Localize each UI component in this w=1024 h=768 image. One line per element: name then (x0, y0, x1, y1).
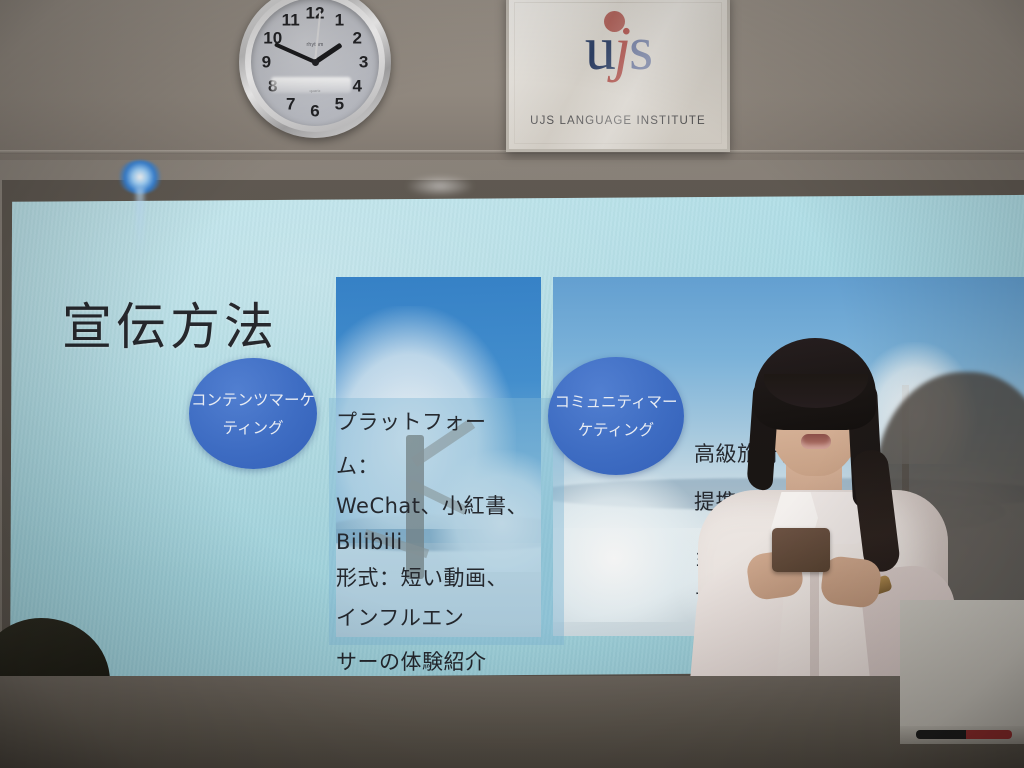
body-line-1: プラットフォー (336, 400, 566, 444)
clock-face: 12 1 2 3 4 5 6 7 8 9 10 11 rhythm quartz (251, 0, 379, 126)
wall-clock: 12 1 2 3 4 5 6 7 8 9 10 11 rhythm quartz (239, 0, 391, 138)
clock-numeral-6: 6 (310, 102, 319, 119)
clock-numeral-9: 9 (262, 54, 271, 71)
clock-numeral-3: 3 (359, 54, 368, 71)
left-body-text: プラットフォー ム： WeChat、小紅書、 Bilibili 形式：短い動画、… (336, 400, 566, 684)
logo-letter-s: s (629, 15, 651, 83)
body-line-4: Bilibili (336, 524, 566, 560)
bubble-content-marketing-label: コンテンツマーケティング (189, 386, 317, 442)
clock-center-pin (312, 59, 319, 66)
body-line-6: インフルエン (336, 596, 566, 640)
slide-title: 宣伝方法 (62, 287, 278, 359)
clock-numeral-2: 2 (353, 29, 362, 46)
body-line-5: 形式：短い動画、 (336, 560, 566, 596)
classroom-photo-scene: 12 1 2 3 4 5 6 7 8 9 10 11 rhythm quartz… (0, 0, 1024, 768)
clock-numeral-5: 5 (335, 96, 344, 113)
lower-wall (0, 676, 1024, 768)
whiteboard (900, 600, 1024, 732)
clock-numeral-12: 12 (306, 5, 325, 22)
ujs-logo: ujs (585, 18, 651, 80)
logo-letter-j: j (614, 15, 629, 83)
projector-light-streak (136, 188, 144, 258)
presenter-phone (772, 528, 830, 572)
clock-numeral-7: 7 (286, 96, 295, 113)
screen-glare (405, 175, 475, 197)
clock-numeral-4: 4 (353, 78, 362, 95)
sign-caption: UJS LANGUAGE INSTITUTE (509, 115, 727, 127)
ujs-institute-sign: ujs UJS LANGUAGE INSTITUTE (506, 0, 730, 152)
clock-glare (271, 77, 350, 92)
clock-numeral-1: 1 (335, 11, 344, 28)
whiteboard-marker (916, 730, 1012, 739)
bubble-community-marketing: コミュニティマーケティング (548, 357, 684, 475)
body-line-2: ム： (336, 444, 566, 488)
presenter-mouth (801, 434, 831, 449)
body-line-3: WeChat、小紅書、 (336, 488, 566, 524)
logo-letter-u: u (585, 15, 614, 83)
bubble-content-marketing: コンテンツマーケティング (189, 358, 317, 469)
clock-numeral-11: 11 (282, 11, 300, 28)
bubble-community-marketing-label: コミュニティマーケティング (548, 388, 684, 444)
